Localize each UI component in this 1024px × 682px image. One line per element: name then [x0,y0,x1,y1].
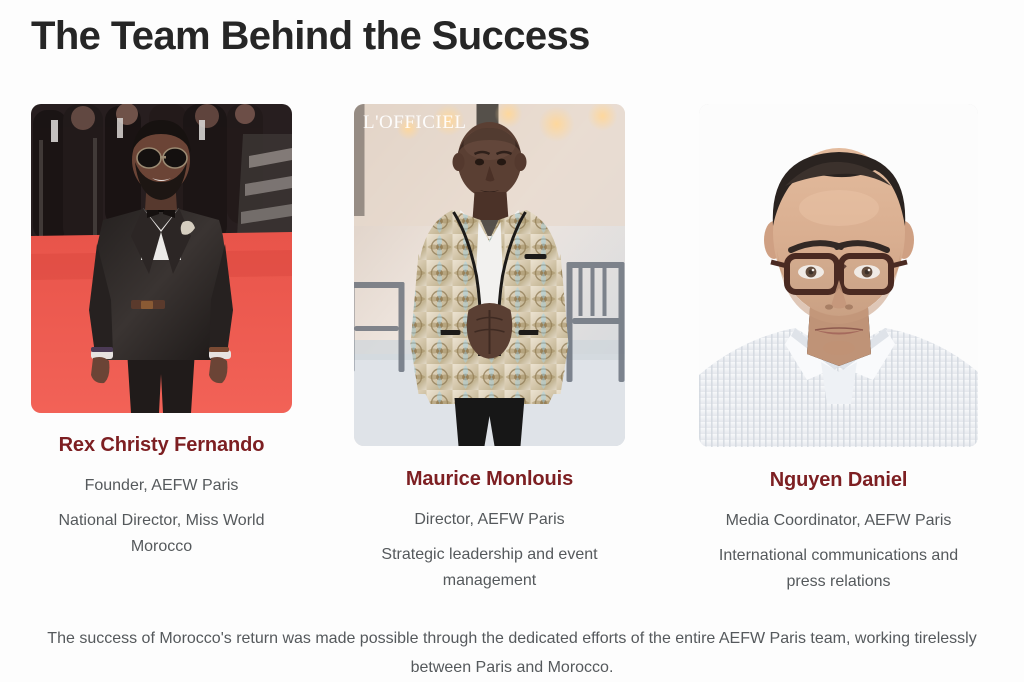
member-name: Rex Christy Fernando [59,432,265,458]
member-description: National Director, Miss World Morocco [31,508,292,560]
member-name: Maurice Monlouis [406,466,573,492]
member-role: Founder, AEFW Paris [85,475,239,497]
team-section: The Team Behind the Success [0,0,1024,682]
brocade-jacket-photo-illustration [354,104,625,446]
team-member-card: Nguyen Daniel Media Coordinator, AEFW Pa… [654,104,1024,595]
member-photo-maurice-monlouis: L'OFFICIEL [354,104,625,446]
team-member-card: L'OFFICIEL Maurice Monlouis Director, AE… [326,104,654,594]
team-footer-note: The success of Morocco's return was made… [47,624,977,682]
member-description: International communications and press r… [699,543,978,595]
page-title: The Team Behind the Success [31,12,590,60]
team-member-grid: Rex Christy Fernando Founder, AEFW Paris… [0,104,1024,595]
member-role: Director, AEFW Paris [414,509,564,531]
red-carpet-photo-illustration [31,104,292,413]
member-photo-rex-christy-fernando [31,104,292,413]
member-name: Nguyen Daniel [770,467,908,493]
headshot-photo-illustration [699,104,978,447]
member-photo-nguyen-daniel [699,104,978,447]
member-role: Media Coordinator, AEFW Paris [726,510,952,532]
team-member-card: Rex Christy Fernando Founder, AEFW Paris… [0,104,326,560]
member-description: Strategic leadership and event managemen… [354,542,625,594]
